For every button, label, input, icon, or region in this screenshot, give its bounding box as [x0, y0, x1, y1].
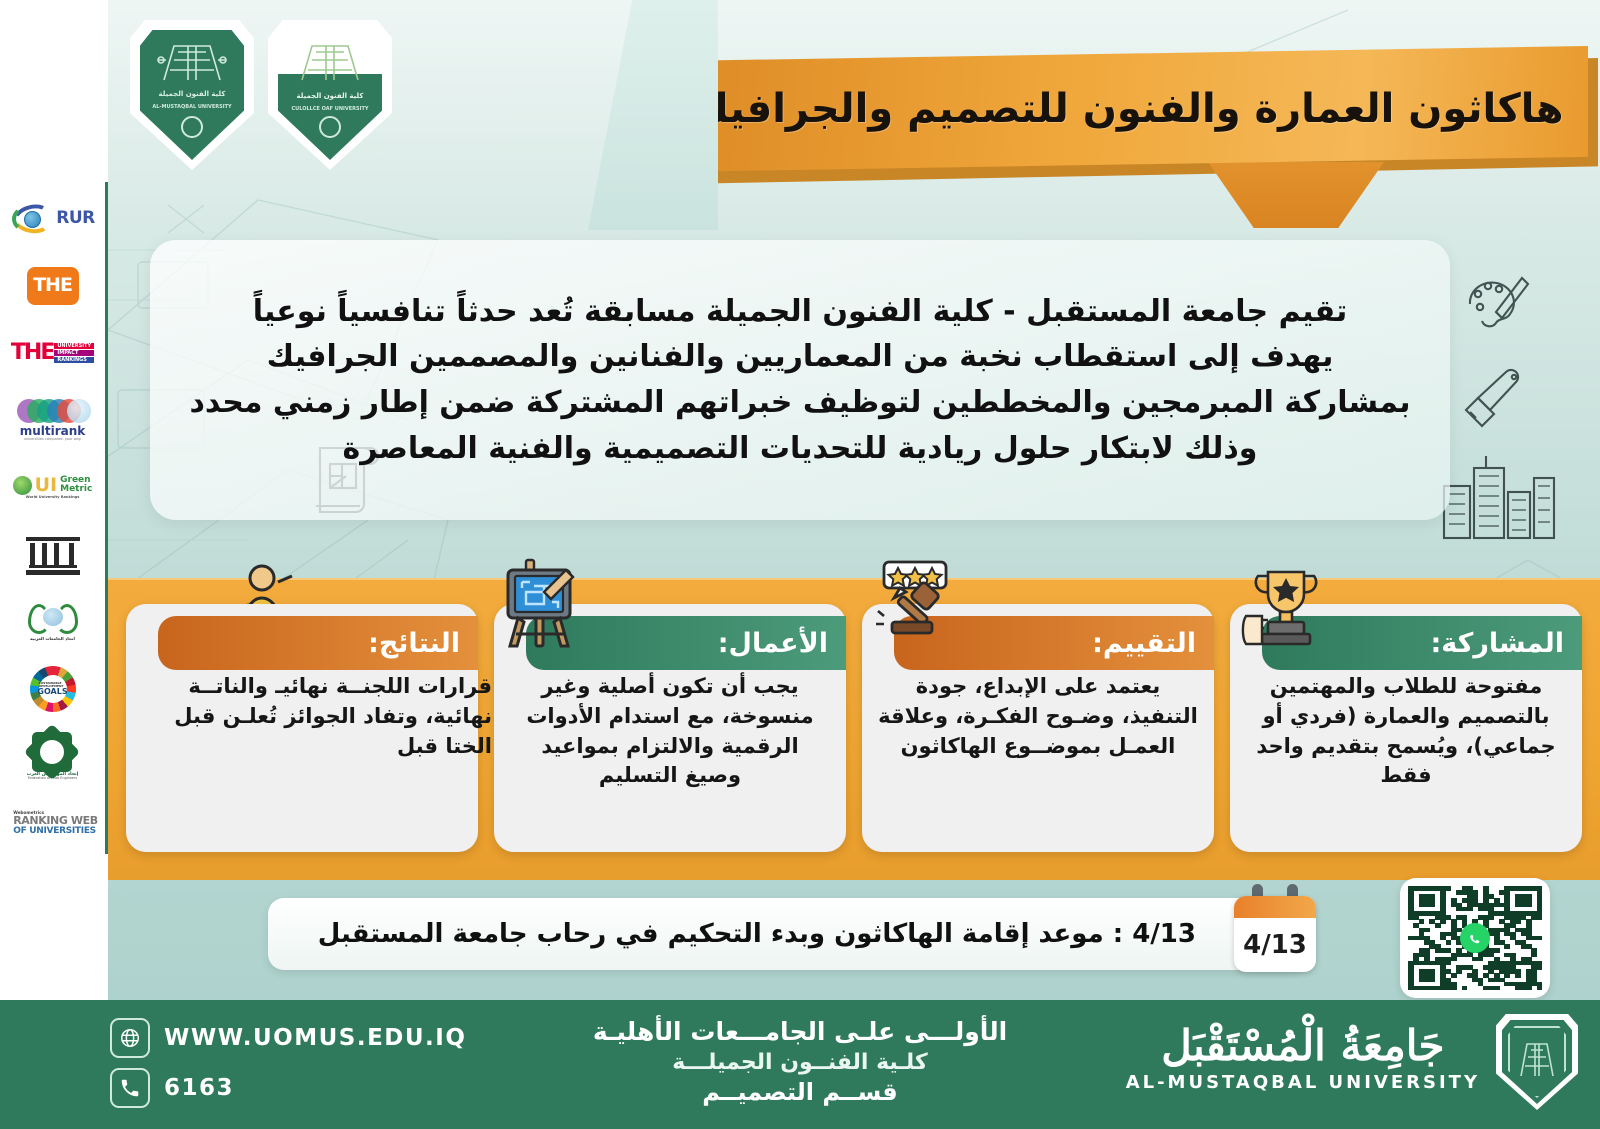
the-impact-rankings-logo: THE UNIVERSITY IMPACT RANKINGS: [7, 322, 99, 383]
the-ranking-logo: THE: [7, 255, 99, 316]
poster-body: كلية الفنون الجميلة AL-MUSTAQBAL UNIVERS…: [108, 0, 1600, 1000]
ziggurat-icon: [156, 36, 228, 82]
greenmetric-sub: World University Rankings: [26, 496, 80, 500]
card-works[interactable]: الأعمال:: [494, 604, 846, 852]
university-shield-icon: [1496, 1014, 1578, 1110]
globe-www-icon: [110, 1018, 150, 1058]
card-evaluation[interactable]: التقييم: يعت: [862, 604, 1214, 852]
card-results-body: قرارات اللجنــة نهائيـ والناتــة نهائية،…: [126, 666, 508, 771]
footer-phone: 6163: [164, 1077, 234, 1100]
card-participation-title: المشاركة:: [1430, 630, 1564, 657]
rankings-sidebar: RUR THE THE UNIVERSITY IMPACT RANKINGS: [0, 182, 108, 854]
footer-university-en: AL-MUSTAQBAL UNIVERSITY: [1126, 1067, 1480, 1099]
footer-university-brand: جَامِعَةُ الْمُسْتَقْبَل AL-MUSTAQBAL UN…: [1126, 1014, 1578, 1110]
college-shield-logo-1: كلية الفنون الجميلة AL-MUSTAQBAL UNIVERS…: [130, 20, 254, 170]
card-participation[interactable]: المشاركة: مفتوحة للطلاب والمهتمين بالتصم…: [1230, 604, 1582, 852]
footer-university-ar: جَامِعَةُ الْمُسْتَقْبَل: [1126, 1025, 1480, 1067]
sdg-center-label: GOALS: [37, 688, 67, 696]
feature-cards: المشاركة: مفتوحة للطلاب والمهتمين بالتصم…: [108, 604, 1600, 864]
footer-website-row[interactable]: WWW.UOMUS.EDU.IQ: [110, 1018, 466, 1058]
card-evaluation-title: التقييم:: [1092, 630, 1196, 657]
banner-main: هاكاثون العمارة والفنون للتصميم والجرافي…: [668, 46, 1588, 172]
columns-institution-logo: [7, 524, 99, 585]
description-line-2: يهدف إلى استقطاب نخبة من المعماريين والف…: [190, 334, 1411, 380]
card-works-body: يجب أن تكون أصلية وغير منسوخة، مع استدام…: [494, 666, 846, 801]
shield-college-en-2: CULOLLCE OAF UNIVERSITY: [268, 106, 392, 113]
arab-universities-union-logo: اتحاد الجامعات العربية: [7, 591, 99, 652]
banner-left-fold: [588, 0, 718, 230]
shield-emblem-ring-2: [319, 116, 341, 138]
footer-department-info: الأولـــى علـى الجامـــعات الأهليـة كلـي…: [520, 1016, 1080, 1108]
the-impact-line-3: RANKINGS: [54, 357, 94, 363]
calendar-icon: 4/13: [1234, 884, 1316, 976]
banner-tail: [1208, 162, 1384, 228]
card-participation-body: مفتوحة للطلاب والمهتمين بالتصميم والعمار…: [1230, 666, 1582, 801]
header-logos: كلية الفنون الجميلة AL-MUSTAQBAL UNIVERS…: [130, 20, 392, 170]
description-line-1: تقيم جامعة المستقبل - كلية الفنون الجميل…: [190, 289, 1411, 335]
footer-line-2: كلـية الفنــون الجميلـــة: [520, 1049, 1080, 1078]
footer-phone-row[interactable]: 6163: [110, 1068, 466, 1108]
footer-line-1: الأولـــى علـى الجامـــعات الأهليـة: [520, 1016, 1080, 1049]
footer-website: WWW.UOMUS.EDU.IQ: [164, 1027, 466, 1050]
webometrics-line-2: OF UNIVERSITIES: [13, 826, 96, 836]
description-text: تقيم جامعة المستقبل - كلية الفنون الجميل…: [190, 289, 1411, 471]
rur-label: RUR: [56, 210, 95, 227]
the-impact-line-1: UNIVERSITY: [54, 343, 94, 349]
shield-college-name-2: كلية الفنون الجميلة: [268, 92, 392, 101]
college-shield-logo-2: كلية الفنون الجميلة CULOLLCE OAF UNIVERS…: [268, 20, 392, 170]
city-skyline-icon: [1438, 452, 1558, 540]
card-results-title: النتائج:: [368, 630, 460, 657]
page-title: هاكاثون العمارة والفنون للتصميم والجرافي…: [692, 87, 1563, 131]
shield-college-en: AL-MUSTAQBAL UNIVERSITY: [130, 104, 254, 111]
footer-ziggurat-icon: [1516, 1036, 1558, 1080]
shield-college-name: كلية الفنون الجميلة: [130, 90, 254, 99]
webometrics-line-1: RANKING WEB: [13, 815, 98, 826]
the-label: THE: [27, 267, 79, 305]
phone-icon: [110, 1068, 150, 1108]
federation-arab-engineers-logo: إتحاد المهندسين العرب Federation of Arab…: [7, 726, 99, 787]
description-line-3: بمشاركة المبرمجين والمخططين لتوظيف خبرات…: [190, 380, 1411, 426]
greenmetric-ui-label: UI: [35, 476, 58, 495]
card-evaluation-body: يعتمد على الإبداع، جودة التنفيذ، وضـوح ا…: [862, 666, 1214, 771]
whatsapp-phone-icon: [1460, 923, 1490, 953]
card-results-header: النتائج:: [158, 616, 478, 670]
card-results[interactable]: النتائج: قرارات اللجنــة نهائيـ والناتــ…: [126, 604, 478, 852]
calendar-date-badge: 4/13: [1234, 918, 1316, 972]
easel-drawing-icon: [500, 558, 592, 650]
footer-line-3: قســم التصميــم: [520, 1077, 1080, 1108]
webometrics-logo: Webometrics RANKING WEB OF UNIVERSITIES: [7, 793, 99, 854]
palette-brush-icon: [1456, 262, 1534, 334]
ui-greenmetric-logo: UI Green Metric World University Ranking…: [7, 457, 99, 518]
title-banner: هاكاثون العمارة والفنون للتصميم والجرافي…: [588, 40, 1598, 190]
date-bar-text: 4/13 : موعد إقامة الهاكاثون وبدء التحكيم…: [318, 921, 1196, 947]
umultirank-logo: multirank universities compared. your wa…: [7, 390, 99, 451]
poster-root: كلية الفنون الجميلة AL-MUSTAQBAL UNIVERS…: [0, 0, 1600, 1129]
umultirank-sub: universities compared. your way.: [24, 438, 82, 442]
greenmetric-globe-icon: [13, 476, 32, 495]
arab-universities-label: اتحاد الجامعات العربية: [30, 637, 75, 641]
footer: WWW.UOMUS.EDU.IQ 6163 الأولـــى علـى الج…: [0, 1000, 1600, 1129]
gavel-stars-icon: [870, 558, 962, 650]
paintbrush-icon: [1460, 368, 1534, 432]
date-bar: 4/13 4/13 : موعد إقامة الهاكاثون وبدء ال…: [268, 898, 1308, 970]
qr-grid: [1408, 886, 1542, 990]
the-impact-label: THE: [11, 342, 53, 364]
description-line-4: وذلك لابتكار حلول ريادية للتحديات التصمي…: [190, 426, 1411, 472]
footer-contact: WWW.UOMUS.EDU.IQ 6163: [110, 1018, 466, 1108]
rur-ranking-logo: RUR: [7, 188, 99, 249]
card-works-title: الأعمال:: [718, 630, 828, 657]
description-card: تقيم جامعة المستقبل - كلية الفنون الجميل…: [150, 240, 1450, 520]
the-impact-line-2: IMPACT: [54, 350, 94, 356]
trophy-icon: [1240, 558, 1332, 650]
whatsapp-qr-code[interactable]: [1400, 878, 1550, 998]
sdg-goals-logo: SUSTAINABLE DEVELOPMENT GOALS: [7, 658, 99, 719]
shield-emblem-ring: [181, 116, 203, 138]
ziggurat-icon-2: [294, 36, 366, 82]
umultirank-label: multirank: [20, 425, 86, 437]
greenmetric-line-2: Metric: [60, 485, 92, 494]
